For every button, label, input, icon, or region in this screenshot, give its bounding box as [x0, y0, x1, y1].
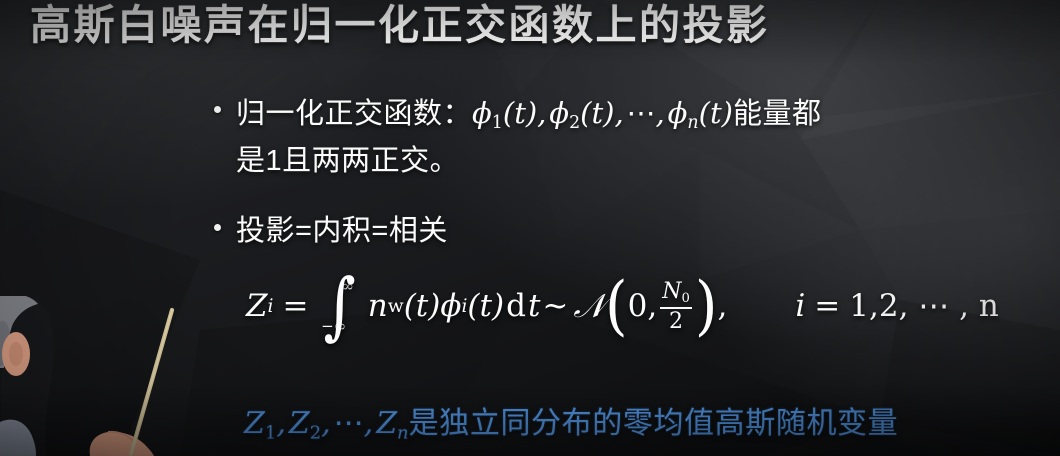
bullet-1-math: ϕ1(t), ϕ2(t), ⋯, ϕn(t) [472, 96, 733, 130]
paren-open: ( [605, 286, 628, 326]
equation-comma: , [718, 288, 728, 324]
display-equation: Zi = ∞ ∫ −∞ nw(t)ϕi(t)dt ~ 𝒩 ( 0, N0 2 )… [246, 279, 999, 334]
distribution-mean: 0, [628, 288, 658, 324]
bullet-text-1: 归一化正交函数：ϕ1(t), ϕ2(t), ⋯, ϕn(t)能量都 是1且两两正… [236, 90, 821, 185]
presenter-figure [0, 296, 230, 456]
variance-fraction: N0 2 [660, 280, 692, 333]
integral-operator: ∞ ∫ −∞ [323, 279, 355, 334]
pointer-stick-highlight [131, 310, 172, 454]
index-equals: = [814, 288, 840, 324]
bullet-marker-2 [214, 224, 221, 231]
conclusion-text: 是独立同分布的零均值高斯随机变量 [409, 407, 899, 440]
presenter-ear-inner [9, 342, 23, 366]
conclusion-line: Z1, Z2, ⋯, Zn是独立同分布的零均值高斯随机变量 [244, 398, 898, 443]
variance-denominator: 2 [667, 309, 685, 333]
bullet-1-lead: 归一化正交函数： [236, 98, 472, 130]
equation-equals: = [283, 288, 309, 324]
normal-distribution-symbol: 𝒩 [573, 286, 605, 326]
integral-sign: ∫ [323, 280, 355, 333]
equation-lhs: Zi [246, 288, 274, 324]
conclusion-variables: Z1, Z2, ⋯, Zn [244, 406, 409, 441]
bullet-item-1: 归一化正交函数：ϕ1(t), ϕ2(t), ⋯, ϕn(t)能量都 是1且两两正… [214, 90, 821, 185]
tilde-operator: ~ [542, 288, 568, 324]
index-variable: i [795, 288, 805, 324]
bullet-item-2: 投影=内积=相关 [214, 208, 448, 255]
variance-numerator: N0 [660, 280, 692, 307]
index-values: 1,2, ⋯ , n [849, 288, 999, 324]
bullet-1-line2: 是1且两两正交。 [236, 138, 821, 185]
presenter-hand [90, 432, 154, 456]
lecture-slide: 高斯白噪声在归一化正交函数上的投影 归一化正交函数：ϕ1(t), ϕ2(t), … [0, 0, 1060, 456]
slide-title: 高斯白噪声在归一化正交函数上的投影 [30, 1, 770, 49]
integrand: nw(t)ϕi(t)dt [368, 288, 541, 324]
bullet-marker-1 [214, 106, 221, 113]
paren-close: ) [695, 286, 718, 326]
bullet-1-tail: 能量都 [733, 98, 822, 130]
bullet-text-2: 投影=内积=相关 [236, 208, 448, 255]
